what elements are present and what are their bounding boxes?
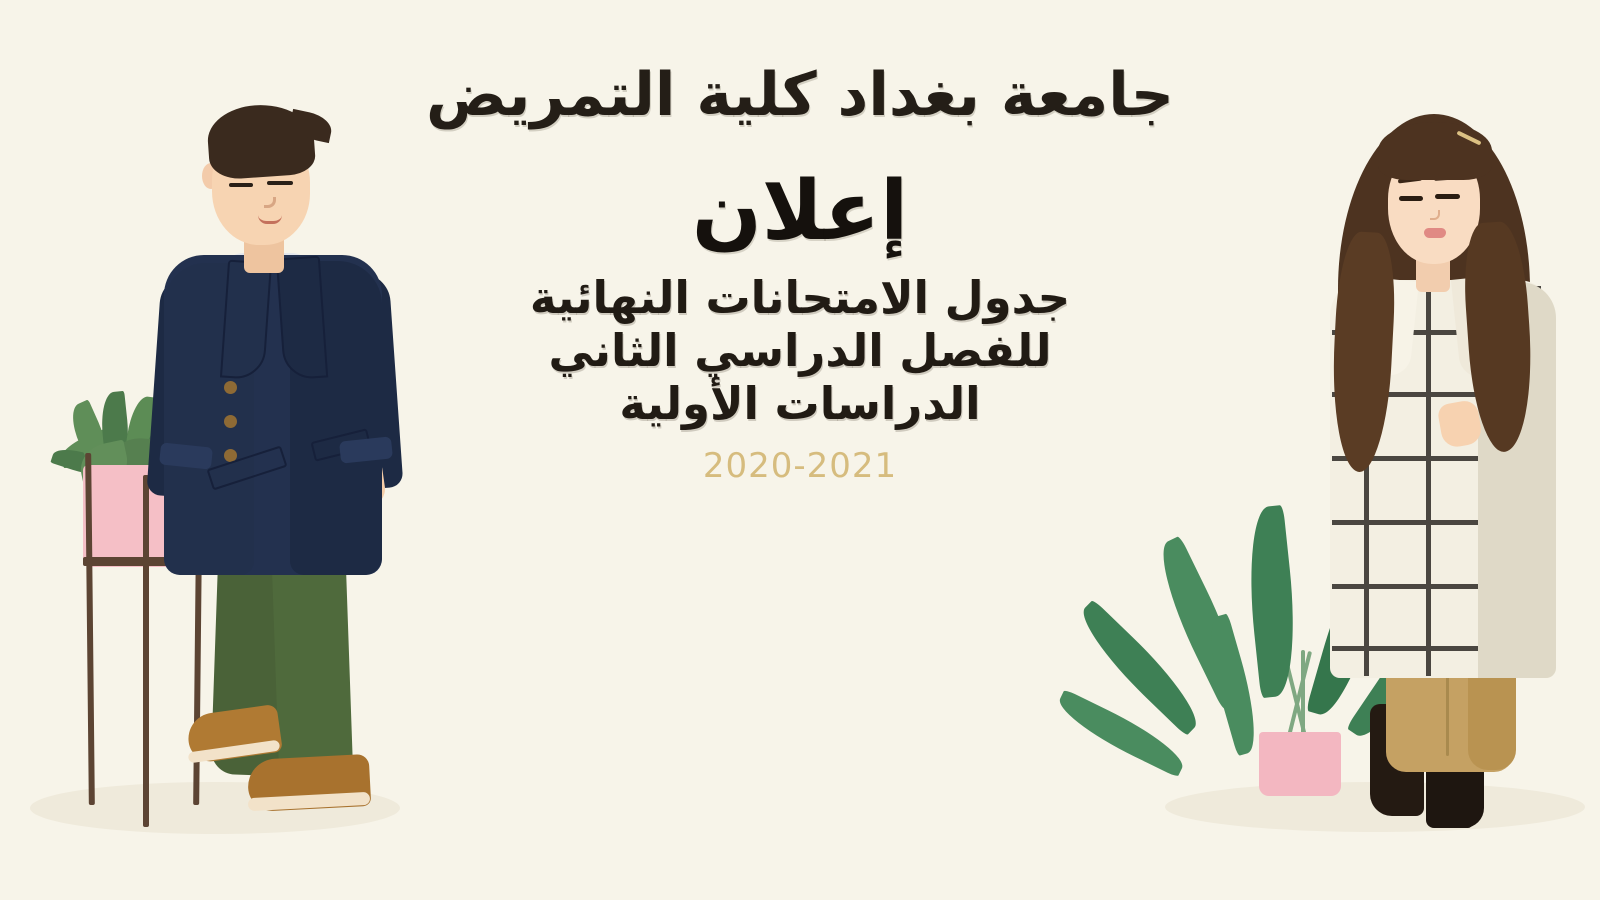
man-eye-left: [229, 183, 253, 187]
announcement-poster: جامعة بغداد كلية التمريض إعلان جدول الام…: [0, 0, 1600, 900]
announcement-title: إعلان: [420, 169, 1180, 255]
woman-boot-heel: [1452, 802, 1472, 828]
subtitle-line-2: للفصل الدراسي الثاني: [420, 324, 1180, 377]
subtitle-block: جدول الامتحانات النهائية للفصل الدراسي ا…: [420, 271, 1180, 430]
woman-lips: [1424, 228, 1446, 238]
subtitle-line-1: جدول الامتحانات النهائية: [420, 271, 1180, 324]
university-heading: جامعة بغداد كلية التمريض: [420, 60, 1180, 131]
man-standing-illustration: [140, 105, 440, 825]
man-coat-button: [224, 415, 237, 428]
subtitle-line-3: الدراسات الأولية: [420, 377, 1180, 430]
woman-standing-illustration: [1300, 112, 1600, 822]
man-eye-right: [267, 181, 293, 185]
woman-eye-left: [1399, 196, 1423, 201]
woman-hair-front: [1378, 122, 1492, 180]
poster-text-block: جامعة بغداد كلية التمريض إعلان جدول الام…: [420, 60, 1180, 486]
academic-year-range: 2020-2021: [420, 446, 1180, 486]
man-coat-button: [224, 381, 237, 394]
banana-leaf: [1241, 505, 1303, 698]
woman-eye-right: [1435, 194, 1460, 199]
